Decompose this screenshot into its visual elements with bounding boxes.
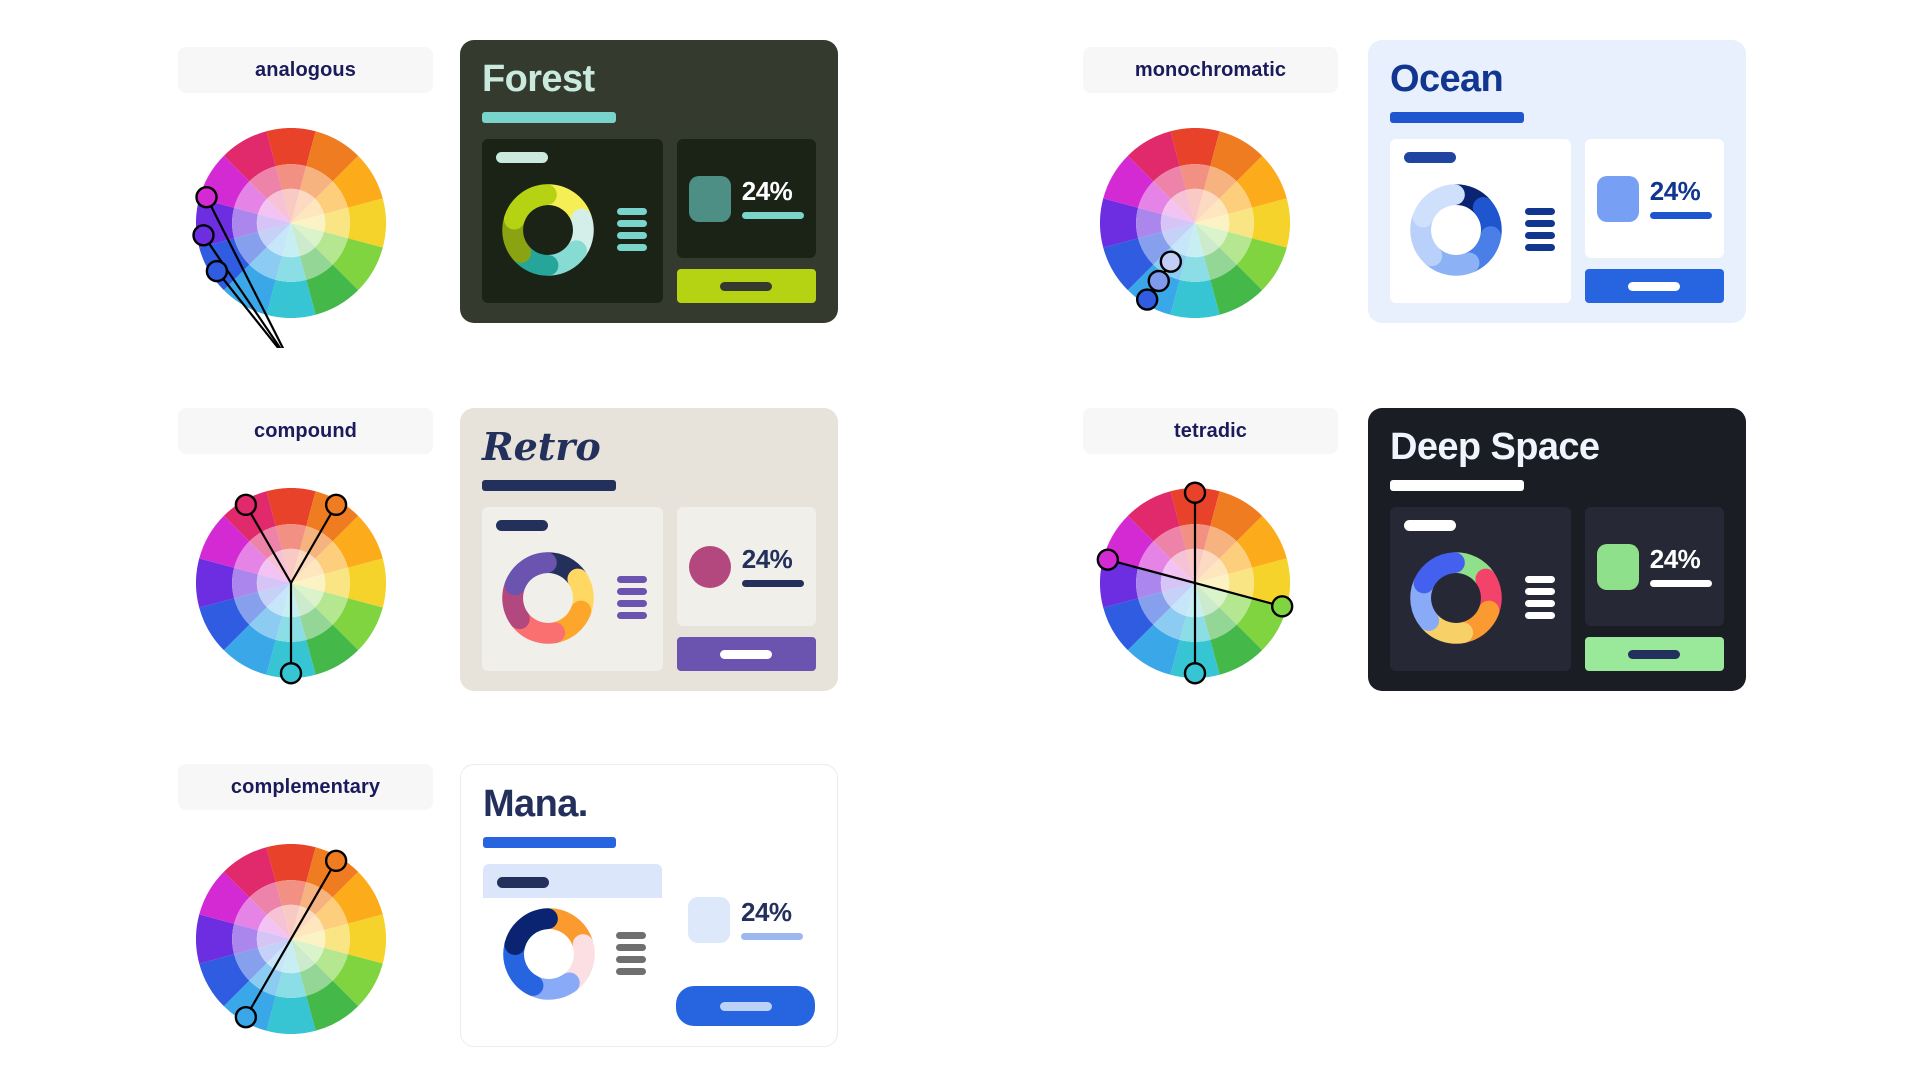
stats-column: 24% [676, 864, 815, 1026]
cta-button[interactable] [1585, 637, 1724, 671]
legend-bar [1525, 244, 1555, 251]
stats-column: 24% [1585, 139, 1724, 303]
legend-bar [616, 956, 646, 963]
title-underline-bar [1390, 480, 1524, 491]
legend-bar [617, 244, 647, 251]
panel-chip [497, 877, 549, 888]
harmony-label-tetradic[interactable]: tetradic [1083, 408, 1338, 454]
stats-column: 24% [677, 139, 816, 303]
harmony-label-text: analogous [255, 59, 356, 82]
stat-percentage: 24% [1650, 178, 1712, 204]
title-underline-bar [1390, 112, 1524, 123]
legend-bars [616, 932, 648, 975]
accent-swatch [1597, 544, 1639, 590]
stat-underline [742, 212, 804, 219]
donut-chart [496, 178, 600, 282]
stat-card: 24% [677, 507, 816, 626]
legend-bar [617, 588, 647, 595]
donut-chart [497, 902, 601, 1006]
stats-column: 24% [1585, 507, 1724, 671]
panel-chip [1404, 152, 1456, 163]
stat-card: 24% [1585, 139, 1724, 258]
color-wheel-complementary[interactable] [196, 844, 386, 1034]
accent-swatch [689, 546, 731, 588]
stat-percentage: 24% [1650, 546, 1712, 572]
wheel-wrapper-compound[interactable] [196, 488, 386, 678]
stat-percentage: 24% [742, 546, 804, 572]
stat-percentage: 24% [741, 899, 803, 925]
cta-button[interactable] [1585, 269, 1724, 303]
theme-card-compound[interactable]: Retro24% [460, 408, 838, 691]
theme-title: Mana. [483, 785, 815, 823]
harmony-label-complementary[interactable]: complementary [178, 764, 433, 810]
legend-bars [1525, 576, 1557, 619]
theme-title: Forest [482, 60, 816, 98]
cta-button[interactable] [677, 637, 816, 671]
title-underline-bar [482, 480, 616, 491]
stat-underline [1650, 212, 1712, 219]
legend-bar [616, 968, 646, 975]
cta-label-placeholder [720, 1002, 772, 1011]
theme-card-tetradic[interactable]: Deep Space24% [1368, 408, 1746, 691]
donut-chart [1404, 178, 1508, 282]
legend-bar [617, 600, 647, 607]
legend-bar [617, 232, 647, 239]
legend-bar [1525, 576, 1555, 583]
legend-bar [617, 220, 647, 227]
preview-panel [1390, 139, 1571, 303]
theme-title: Ocean [1390, 60, 1724, 98]
preview-panel [482, 139, 663, 303]
legend-bars [1525, 208, 1557, 251]
legend-bars [617, 576, 649, 619]
harmony-label-text: complementary [231, 776, 380, 799]
panel-chip [496, 152, 548, 163]
color-wheel-compound[interactable] [196, 488, 386, 678]
theme-card-complementary[interactable]: Mana.24% [460, 764, 838, 1047]
stat-percentage: 24% [742, 178, 804, 204]
theme-card-monochromatic[interactable]: Ocean24% [1368, 40, 1746, 323]
stat-underline [741, 933, 803, 940]
wheel-wrapper-complementary[interactable] [196, 844, 386, 1034]
legend-bar [1525, 220, 1555, 227]
preview-panel [483, 864, 662, 1026]
cta-label-placeholder [1628, 282, 1680, 291]
donut-chart [1404, 546, 1508, 650]
harmony-label-monochromatic[interactable]: monochromatic [1083, 47, 1338, 93]
preview-panel [1390, 507, 1571, 671]
stat-underline [1650, 580, 1712, 587]
stat-card: 24% [677, 139, 816, 258]
legend-bar [1525, 232, 1555, 239]
cta-label-placeholder [1628, 650, 1680, 659]
cta-label-placeholder [720, 650, 772, 659]
stats-column: 24% [677, 507, 816, 671]
cta-button[interactable] [677, 269, 816, 303]
legend-bar [617, 576, 647, 583]
legend-bar [1525, 612, 1555, 619]
wheel-wrapper-analogous[interactable] [196, 128, 386, 318]
harmony-label-analogous[interactable]: analogous [178, 47, 433, 93]
accent-swatch [688, 897, 730, 943]
harmony-label-compound[interactable]: compound [178, 408, 433, 454]
legend-bar [617, 208, 647, 215]
accent-swatch [689, 176, 731, 222]
legend-bar [616, 944, 646, 951]
legend-bar [616, 932, 646, 939]
cta-label-placeholder [720, 282, 772, 291]
legend-bar [1525, 588, 1555, 595]
harmony-label-text: compound [254, 420, 357, 443]
preview-panel [482, 507, 663, 671]
title-underline-bar [482, 112, 616, 123]
wheel-wrapper-monochromatic[interactable] [1100, 128, 1290, 318]
theme-title: Retro [482, 428, 816, 466]
legend-bar [1525, 208, 1555, 215]
theme-card-analogous[interactable]: Forest24% [460, 40, 838, 323]
stat-card: 24% [676, 864, 815, 975]
stat-underline [742, 580, 804, 587]
title-underline-bar [483, 837, 616, 848]
harmony-label-text: monochromatic [1135, 59, 1286, 82]
color-harmony-board: analogousForest24%monochromaticOcean24%c… [0, 0, 1920, 1080]
legend-bar [1525, 600, 1555, 607]
harmony-label-text: tetradic [1174, 420, 1247, 443]
color-wheel-tetradic[interactable] [1100, 488, 1290, 678]
cta-button[interactable] [676, 986, 815, 1026]
accent-swatch [1597, 176, 1639, 222]
panel-chip [1404, 520, 1456, 531]
theme-title: Deep Space [1390, 428, 1724, 466]
donut-chart [496, 546, 600, 650]
color-wheel-analogous[interactable] [196, 128, 386, 318]
wheel-wrapper-tetradic[interactable] [1100, 488, 1290, 678]
color-wheel-monochromatic[interactable] [1100, 128, 1290, 318]
legend-bar [617, 612, 647, 619]
stat-card: 24% [1585, 507, 1724, 626]
legend-bars [617, 208, 649, 251]
panel-chip [496, 520, 548, 531]
